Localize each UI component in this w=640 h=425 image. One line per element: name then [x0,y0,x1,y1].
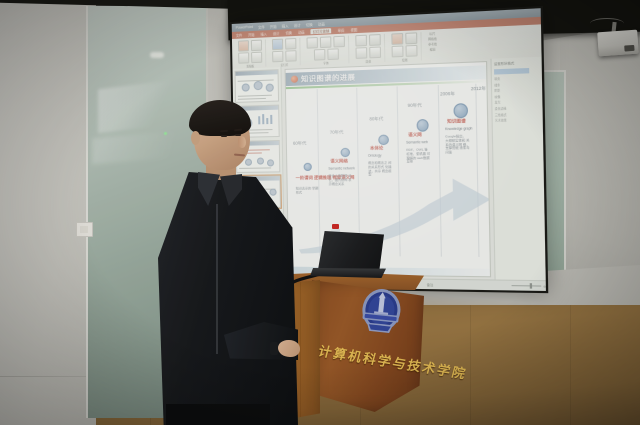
task-pane-item-1[interactable]: 线条 [494,81,540,87]
light-switch[interactable] [76,222,93,237]
new-slide-icon[interactable] [272,39,283,51]
titlebar-menu-1[interactable]: 开始 [270,23,277,28]
numbering-icon[interactable] [369,34,381,46]
titlebar-menu-3[interactable]: 设计 [294,22,301,27]
align-left-icon[interactable] [355,47,367,59]
zoom-slider[interactable]: 66% [511,283,548,288]
point-label-1: 语义网络 [330,158,348,164]
cut-icon[interactable] [251,40,262,52]
font-size-icon[interactable] [327,48,339,60]
presenter-nose [238,136,246,148]
presenter-jacket [158,172,298,425]
section-icon[interactable] [285,50,296,62]
point-english-4: Knowledge graph [445,126,473,131]
ribbon-group-font[interactable]: 字体 [303,36,349,66]
tick-label-5: 2012年 [471,86,486,93]
tab-1[interactable]: 开始 [248,32,254,37]
tab-8[interactable]: 视图 [350,27,357,32]
point-label-3: 语义网 [408,132,422,139]
task-pane-item-4[interactable]: 发光 [495,99,541,105]
tab-3[interactable]: 设计 [273,31,280,36]
data-point-0 [304,163,312,171]
ribbon-group-editing[interactable]: 标尺 网格线 参考线 编辑 [425,31,441,60]
data-point-2 [378,135,389,146]
projector-cable [590,18,624,29]
ceiling-light-reflection [150,52,164,58]
tab-7[interactable]: 审阅 [338,28,345,33]
tick-label-4: 2006年 [440,91,455,98]
tab-5[interactable]: 动画 [298,29,305,34]
left-wall [0,0,96,425]
ribbon-group-drawing[interactable]: 绘图 [388,32,422,62]
task-pane-selected-row[interactable] [494,68,529,75]
copy-icon[interactable] [238,52,249,63]
point-desc-2: 概念和概念之 间的关系形式 化描述，共享 概念模型 [368,162,392,178]
thumb-number-0: 9 [236,72,237,75]
shape-fill-icon[interactable] [405,45,417,57]
tab-4[interactable]: 切换 [285,30,292,35]
titlebar-menu-0[interactable]: 文件 [258,24,265,29]
ceiling-projector-icon [597,30,639,57]
ribbon-group-label-5: 编辑 [430,47,436,51]
knowledge-graph-timeline-chart: 60年代 70年代 80年代 90年代 2006年 2012年 一阶谓词 逻辑 [286,83,490,261]
thumbnail-slide-9[interactable]: 9 [235,69,280,103]
tab-0[interactable]: 文件 [236,32,242,37]
zoom-level: 66% [543,284,548,288]
format-painter-icon[interactable] [251,52,262,64]
tab-active[interactable]: 幻灯片放映 [311,28,332,34]
wristwatch [270,342,278,355]
task-pane-item-3[interactable]: 映像 [494,93,540,99]
tick-label-1: 70年代 [330,129,344,135]
bold-icon[interactable] [306,37,318,49]
tick-label-3: 90年代 [408,102,422,109]
bullet-icon [291,76,298,83]
point-label-4: 知识图谱 [447,118,466,125]
point-desc-1: 符合人类联想 记忆，图式结构 表示概念关系 [328,175,351,187]
task-pane-item-2[interactable]: 阴影 [494,87,540,93]
arrange-icon[interactable] [405,32,417,44]
quick-styles-icon[interactable] [392,45,404,57]
titlebar-menu-5[interactable]: 动画 [318,21,325,26]
point-desc-0: 知识表示的 早期形式 [296,187,319,195]
data-point-4 [453,103,468,118]
point-desc-4: Google提出， 大规模实体和 关系的语义网 络，支撑智能 搜索与问答 [445,135,470,155]
point-english-3: Semantic web [406,140,428,145]
format-task-pane[interactable]: 设置形状格式 填充 线条 阴影 映像 发光 柔化边缘 三维格式 艺术效果 [490,57,545,280]
ribbon-group-paragraph[interactable]: 段落 [352,34,385,63]
university-crest [355,284,407,345]
task-pane-item-6[interactable]: 三维格式 [495,111,541,116]
current-slide[interactable]: 知识图谱的进展 [285,61,492,277]
presenter [158,104,298,425]
data-point-1 [341,148,351,157]
slide-title: 知识图谱的进展 [301,72,356,84]
ribbon-check-0[interactable]: 标尺 [429,31,435,35]
presenter-hand [278,340,300,357]
point-english-2: Ontology [368,153,382,157]
layout-icon[interactable] [285,38,296,50]
point-label-2: 本体论 [370,145,383,151]
titlebar-menu-4[interactable]: 切换 [306,21,313,26]
lecture-room-photo: PowerPoint 文件 开始 插入 设计 切换 动画 文件 开始 插入 设计… [0,0,640,425]
point-desc-3: RDF、OWL 等标准，使机器 可理解的 web数据互联 [406,148,430,164]
reset-icon[interactable] [272,51,283,63]
presenter-legs [166,404,270,425]
ribbon-check-2[interactable]: 参考线 [428,42,437,47]
point-english-1: Semantic network [328,166,355,170]
task-pane-item-7[interactable]: 艺术效果 [495,117,541,122]
presenter-ear [191,131,200,145]
ribbon-group-clipboard[interactable]: 剪贴板 [235,39,266,67]
align-center-icon[interactable] [369,46,381,58]
paste-icon[interactable] [238,40,249,52]
task-pane-item-5[interactable]: 柔化边缘 [495,105,541,111]
font-color-icon[interactable] [313,49,325,61]
app-name: PowerPoint [236,25,253,30]
titlebar-menu-2[interactable]: 插入 [282,23,289,28]
ribbon-group-slides[interactable]: 幻灯片 [269,38,301,67]
shapes-icon[interactable] [391,33,403,45]
data-point-3 [417,119,429,132]
slide-editing-area[interactable]: 知识图谱的进展 [282,59,495,280]
tick-label-2: 80年代 [369,116,383,123]
underline-icon[interactable] [333,36,345,48]
bullets-icon[interactable] [355,35,367,47]
task-pane-heading: 设置形状格式 [494,60,540,66]
ribbon-check-1[interactable]: 网格线 [428,37,437,42]
tab-2[interactable]: 插入 [260,31,266,36]
task-pane-item-0[interactable]: 填充 [494,75,540,81]
italic-icon[interactable] [320,36,332,48]
